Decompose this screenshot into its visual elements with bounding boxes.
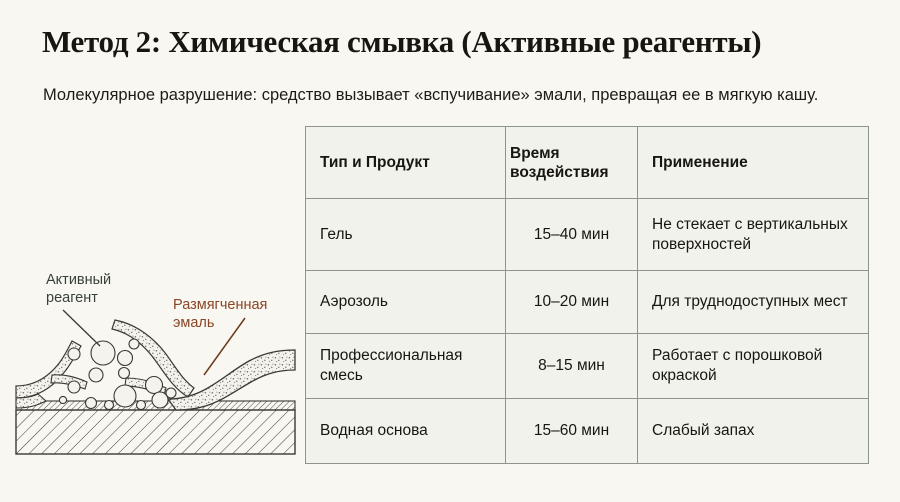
table-header: Тип и Продукт Время воздействия Применен… [306,127,869,199]
cell-time: 8–15 мин [506,334,638,399]
table-row: Водная основа 15–60 мин Слабый запах [306,399,869,464]
column-header-time-line2: воздействия [510,164,609,181]
spec-table-container: Тип и Продукт Время воздействия Применен… [305,126,868,451]
column-header-type: Тип и Продукт [306,127,506,199]
cell-use: Слабый запах [638,399,869,464]
column-header-time-line1: Время [510,145,560,162]
cell-time: 10–20 мин [506,271,638,334]
cell-time: 15–40 мин [506,199,638,271]
table-row: Гель 15–40 мин Не стекает с вертикальных… [306,199,869,271]
cell-type: Аэрозоль [306,271,506,334]
cell-type: Водная основа [306,399,506,464]
column-header-time: Время воздействия [506,127,638,199]
label-active-reagent: Активный реагент [46,272,111,307]
slide-root: Метод 2: Химическая смывка (Активные реа… [0,0,900,502]
page-subtitle: Молекулярное разрушение: средство вызыва… [43,83,867,107]
cell-use: Не стекает с вертикальных поверхностей [638,199,869,271]
substrate-base-layer [16,410,295,454]
cell-type: Гель [306,199,506,271]
leader-line-reagent [63,310,100,346]
page-title: Метод 2: Химическая смывка (Активные реа… [42,24,872,60]
cell-use: Для труднодоступных мест [638,271,869,334]
cell-type: Профессиональная смесь [306,334,506,399]
cell-use: Работает с порошковой окраской [638,334,869,399]
table-header-row: Тип и Продукт Время воздействия Применен… [306,127,869,199]
column-header-use: Применение [638,127,869,199]
spec-table: Тип и Продукт Время воздействия Применен… [305,126,869,464]
table-body: Гель 15–40 мин Не стекает с вертикальных… [306,199,869,464]
cell-time: 15–60 мин [506,399,638,464]
table-row: Аэрозоль 10–20 мин Для труднодоступных м… [306,271,869,334]
label-softened-enamel: Размягченная эмаль [173,297,267,332]
table-row: Профессиональная смесь 8–15 мин Работает… [306,334,869,399]
